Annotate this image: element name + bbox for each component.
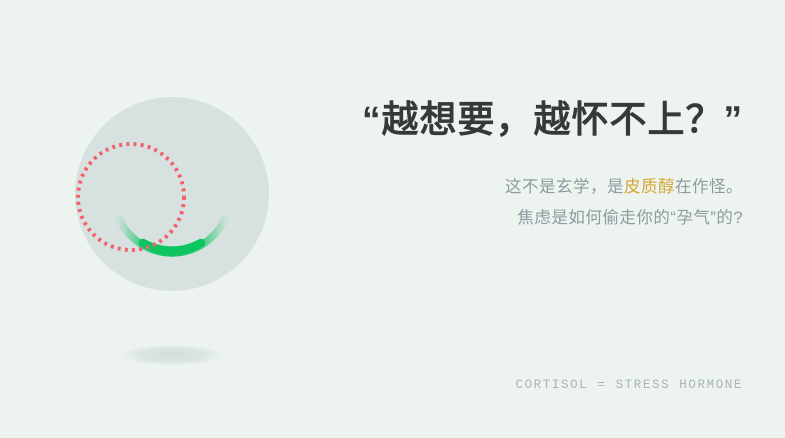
slide-canvas: “越想要，越怀不上？” 这不是玄学，是皮质醇在作怪。 焦虑是如何偷走你的“孕气”… [0, 0, 785, 438]
page-title: “越想要，越怀不上？” [300, 96, 743, 143]
subtitle-line-1-after: 在作怪。 [675, 178, 743, 196]
footer-note: CORTISOL = STRESS HORMONE [300, 378, 743, 392]
subtitle-line-2: 焦虑是如何偷走你的“孕气”的? [300, 203, 743, 234]
big-disc-shape [75, 97, 269, 291]
text-block: “越想要，越怀不上？” 这不是玄学，是皮质醇在作怪。 焦虑是如何偷走你的“孕气”… [300, 96, 743, 233]
subtitle-line-1: 这不是玄学，是皮质醇在作怪。 [300, 172, 743, 203]
subtitle-accent-cortisol: 皮质醇 [624, 178, 675, 196]
illustration-panel [0, 0, 330, 438]
ground-shadow-ellipse [120, 344, 224, 366]
subtitle-line-1-before: 这不是玄学，是 [505, 178, 624, 196]
subtitle-group: 这不是玄学，是皮质醇在作怪。 焦虑是如何偷走你的“孕气”的? [300, 172, 743, 233]
illustration-svg [0, 0, 330, 438]
